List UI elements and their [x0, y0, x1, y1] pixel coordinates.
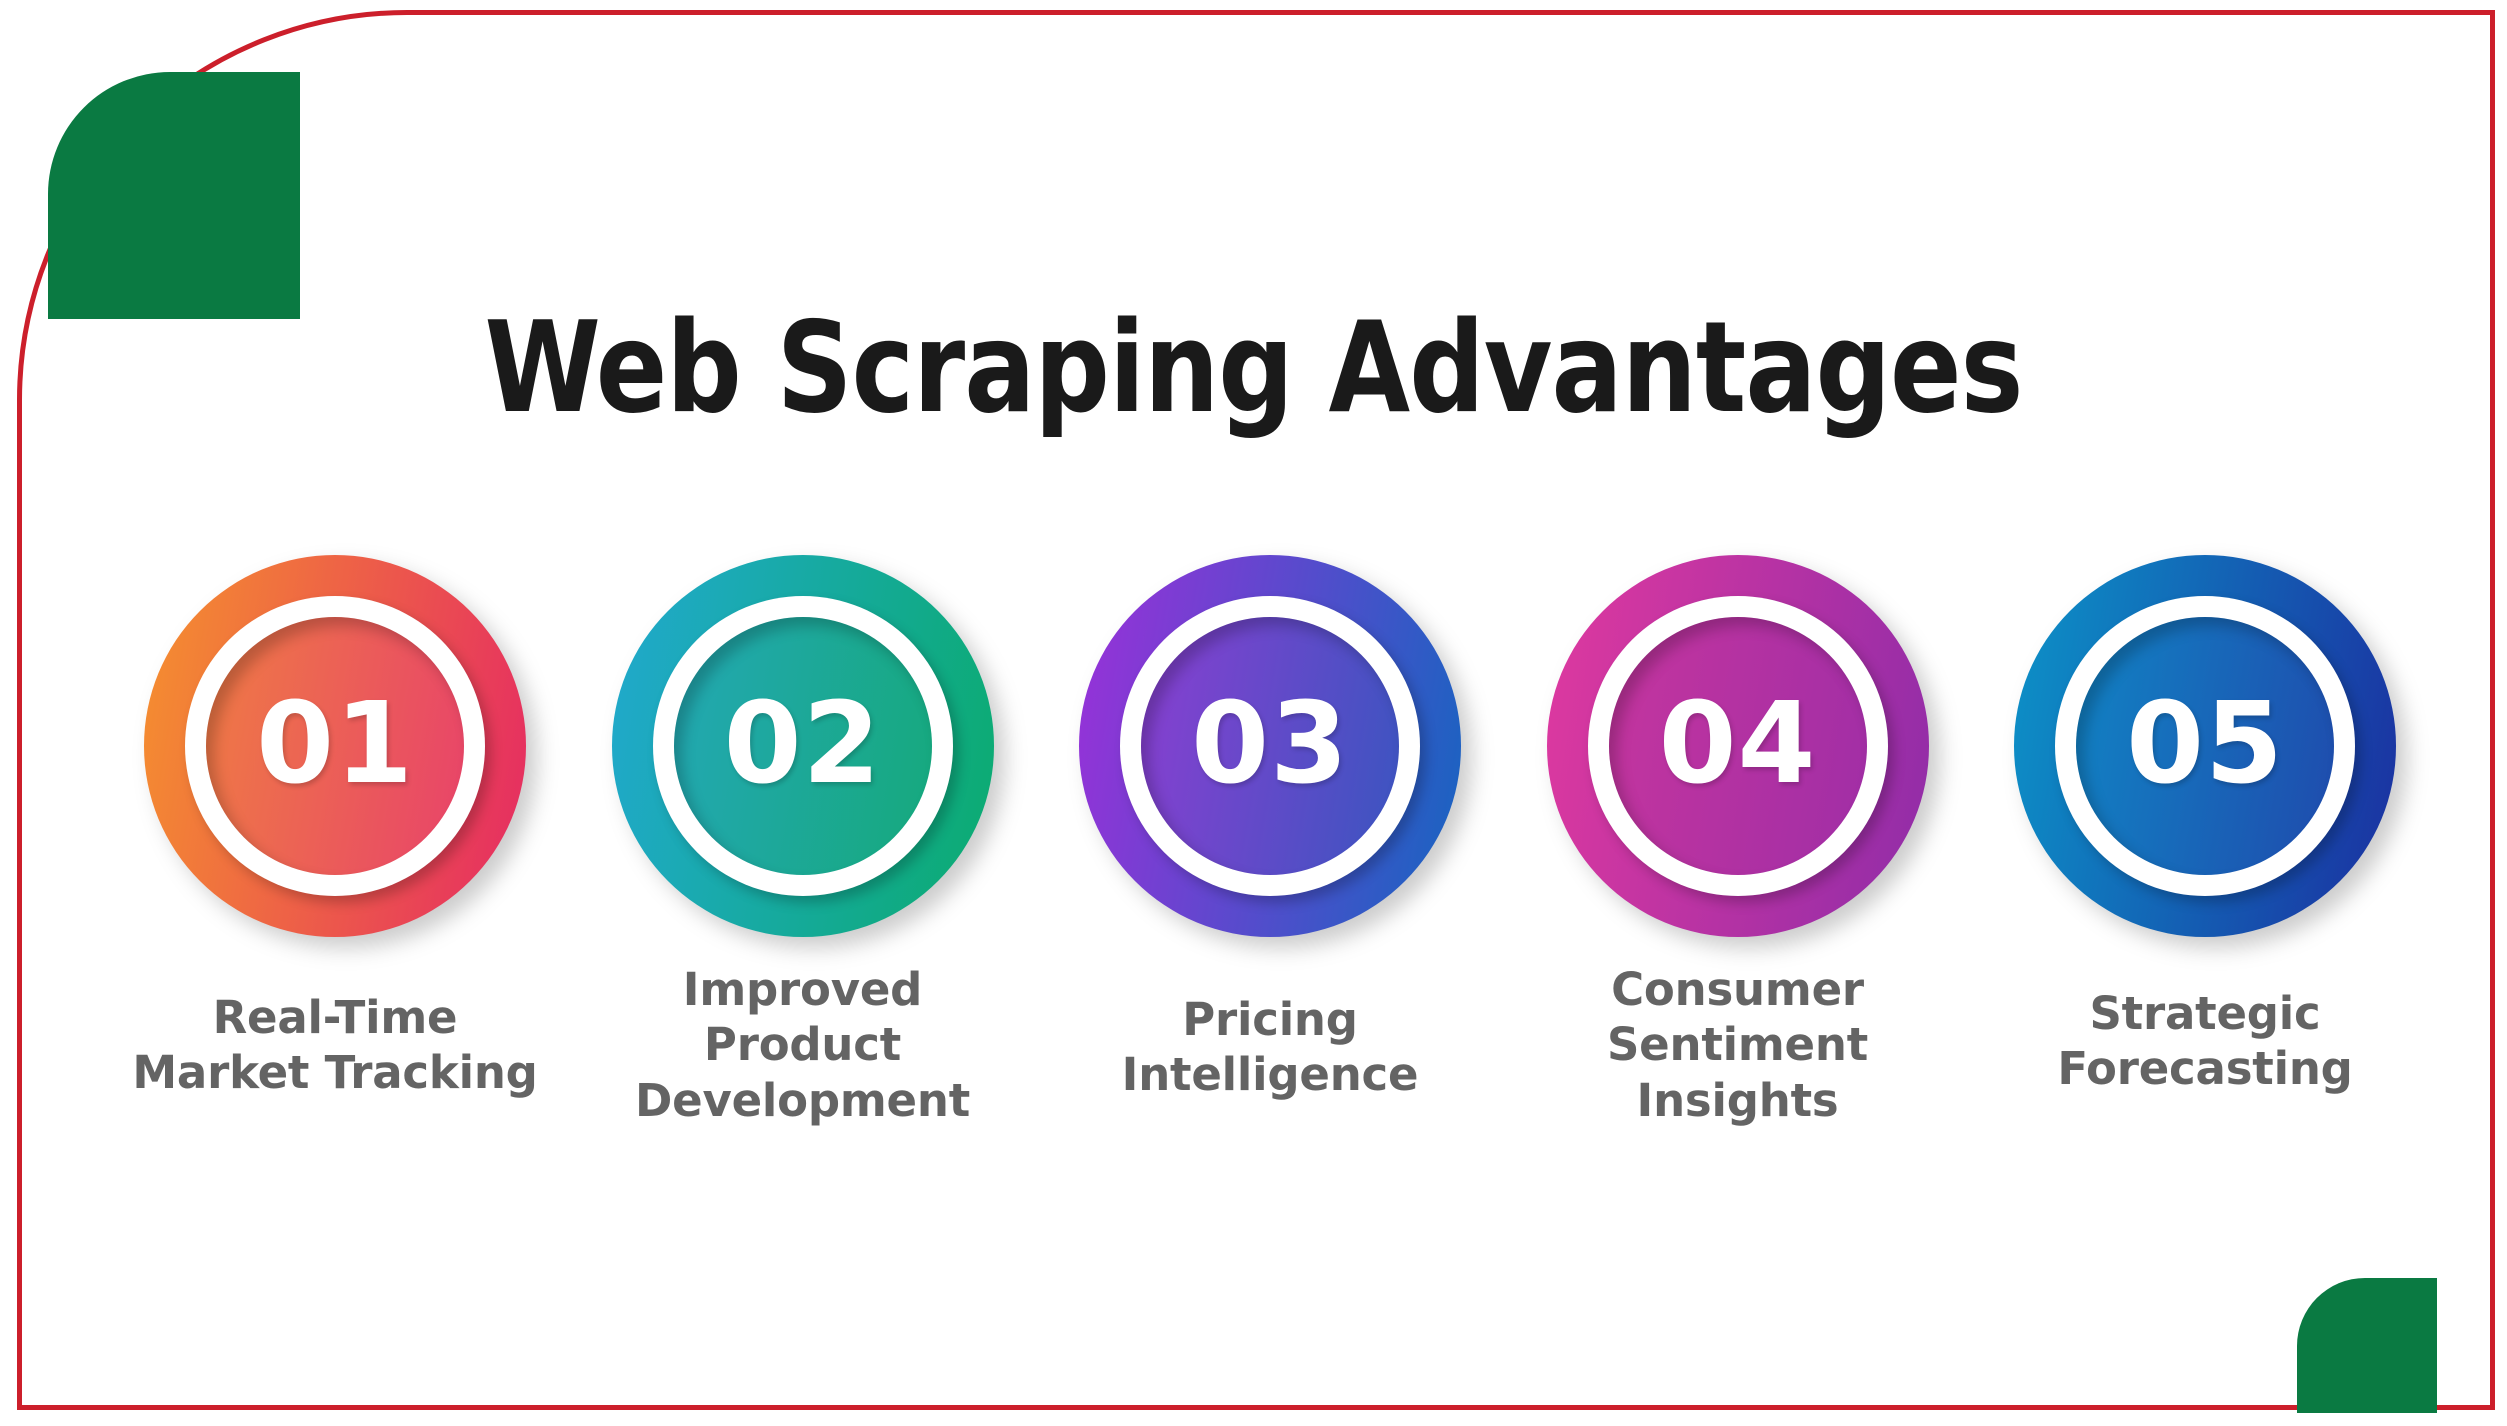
- step-label: ImprovedProductDevelopment: [635, 962, 970, 1128]
- step-number: 01: [256, 688, 414, 800]
- step-number: 02: [724, 688, 882, 800]
- badge-inner-disc: 03: [1141, 617, 1399, 875]
- step-number: 05: [2126, 688, 2284, 800]
- step-label-line: Market Tracking: [132, 1045, 537, 1100]
- badge-outer-ring: 02: [612, 555, 994, 937]
- badge-inner-disc: 04: [1609, 617, 1867, 875]
- badge-inner-disc: 01: [206, 617, 464, 875]
- advantage-item: 01Real-TimeMarket Tracking: [120, 548, 550, 1101]
- slide-canvas: Web Scraping Advantages 01Real-TimeMarke…: [0, 0, 2507, 1426]
- step-label-line: Development: [635, 1073, 970, 1128]
- badge-white-ring: 05: [2055, 596, 2355, 896]
- badge-white-ring: 02: [653, 596, 953, 896]
- step-label-line: Improved: [635, 962, 970, 1017]
- badge-white-ring: 03: [1120, 596, 1420, 896]
- page-title: Web Scraping Advantages: [88, 302, 2420, 434]
- step-label-line: Product: [635, 1017, 970, 1072]
- step-label-line: Pricing: [1122, 992, 1419, 1047]
- step-badge: 01: [137, 548, 533, 944]
- badge-inner-disc: 02: [674, 617, 932, 875]
- step-label: StrategicForecasting: [2057, 986, 2352, 1097]
- decorative-green-block-bottom-right: [2297, 1278, 2437, 1413]
- badge-white-ring: 01: [185, 596, 485, 896]
- step-label-line: Real-Time: [132, 990, 537, 1045]
- advantage-item: 04ConsumerSentimentInsights: [1523, 548, 1953, 1128]
- step-badge: 03: [1072, 548, 1468, 944]
- advantage-item: 02ImprovedProductDevelopment: [588, 548, 1018, 1128]
- step-label-line: Intelligence: [1122, 1047, 1419, 1102]
- advantages-list: 01Real-TimeMarket Tracking02ImprovedProd…: [120, 548, 2420, 1128]
- badge-outer-ring: 03: [1079, 555, 1461, 937]
- step-badge: 04: [1540, 548, 1936, 944]
- step-label: Real-TimeMarket Tracking: [132, 990, 537, 1101]
- step-label: ConsumerSentimentInsights: [1607, 962, 1868, 1128]
- step-badge: 05: [2007, 548, 2403, 944]
- step-number: 04: [1659, 688, 1817, 800]
- badge-outer-ring: 01: [144, 555, 526, 937]
- step-label-line: Consumer: [1607, 962, 1868, 1017]
- badge-inner-disc: 05: [2076, 617, 2334, 875]
- decorative-green-block-top-left: [48, 72, 300, 319]
- step-label-line: Sentiment: [1607, 1017, 1868, 1072]
- badge-outer-ring: 05: [2014, 555, 2396, 937]
- step-label-line: Forecasting: [2057, 1041, 2352, 1096]
- advantage-item: 05StrategicForecasting: [1990, 548, 2420, 1097]
- step-label-line: Insights: [1607, 1073, 1868, 1128]
- badge-white-ring: 04: [1588, 596, 1888, 896]
- step-number: 03: [1191, 688, 1349, 800]
- badge-outer-ring: 04: [1547, 555, 1929, 937]
- step-label: PricingIntelligence: [1122, 992, 1419, 1103]
- advantage-item: 03PricingIntelligence: [1055, 548, 1485, 1103]
- step-badge: 02: [605, 548, 1001, 944]
- step-label-line: Strategic: [2057, 986, 2352, 1041]
